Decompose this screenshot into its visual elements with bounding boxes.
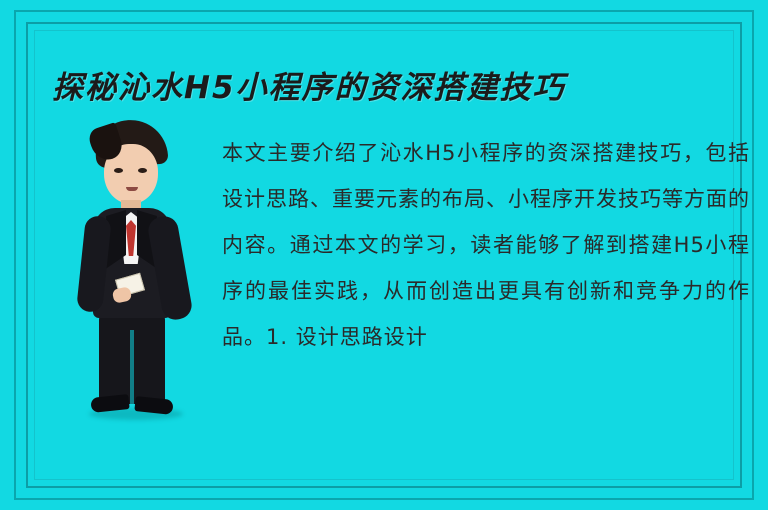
character-leg-gap [130, 330, 134, 404]
businessman-character-illustration [55, 120, 215, 420]
character-eye-right [138, 168, 147, 173]
poster-body-text: 本文主要介绍了沁水H5小程序的资深搭建技巧，包括设计思路、重要元素的布局、小程序… [222, 130, 750, 360]
character-eye-left [114, 168, 123, 173]
poster-title: 探秘沁水H5小程序的资深搭建技巧 [52, 62, 712, 107]
poster-canvas: 探秘沁水H5小程序的资深搭建技巧 本文主要介绍了沁水H5小程序的资深搭建技巧，包… [0, 0, 768, 510]
